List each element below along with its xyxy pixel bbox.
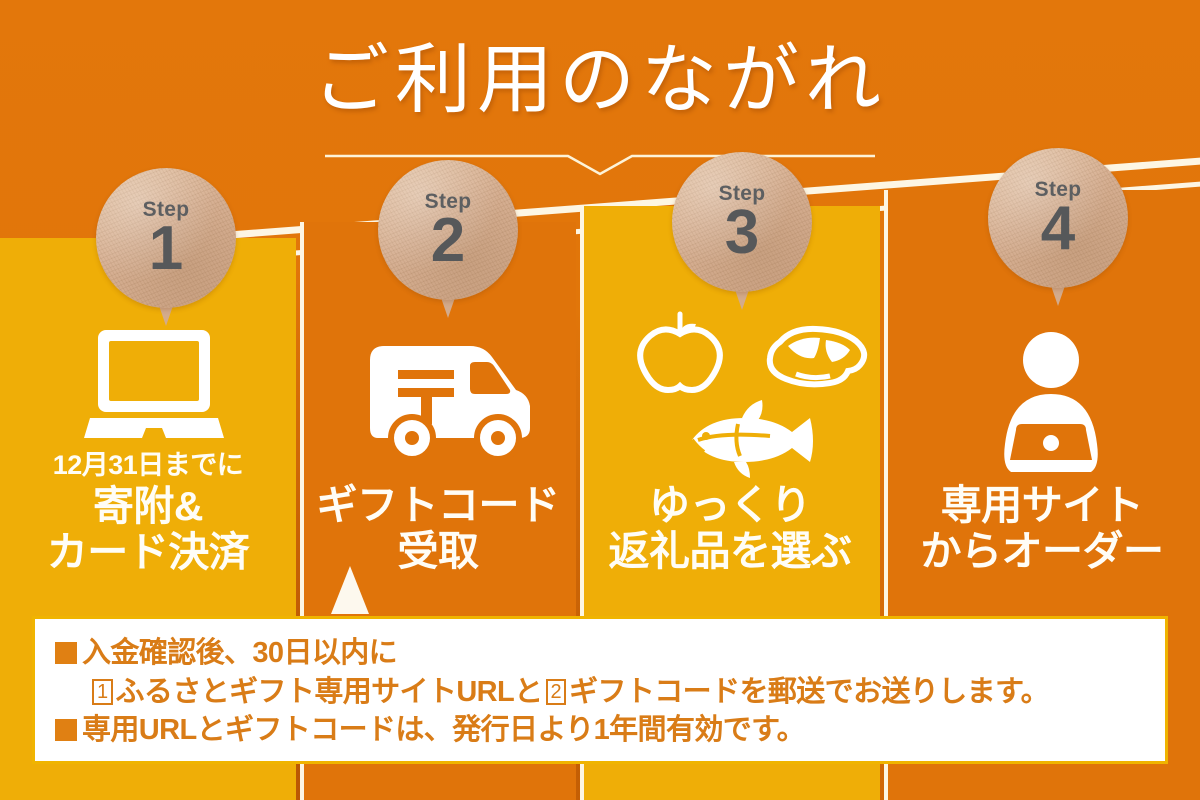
badge-number-2: 2 xyxy=(378,210,518,272)
step-caption-1-line2: カード決済 xyxy=(0,530,296,576)
postal-van-icon xyxy=(358,344,544,464)
laptop-icon xyxy=(84,326,224,444)
step-caption-4-line1: 専用サイト xyxy=(884,483,1200,529)
step-badge-2: Step 2 xyxy=(378,160,518,300)
note-line-3-text: 専用URLとギフトコードは、発行日より1年間有効です。 xyxy=(82,714,805,746)
fish-icon xyxy=(668,396,834,482)
step-caption-3-line1: ゆっくり xyxy=(580,483,880,529)
person-laptop-icon xyxy=(986,330,1116,476)
meat-icon xyxy=(762,324,870,392)
badge-number-1: 1 xyxy=(96,218,236,280)
note-line-2: 1ふるさとギフト専用サイトURLと2ギフトコードを郵送でお送りします。 xyxy=(55,673,1147,712)
step2-pointer-triangle xyxy=(331,566,369,614)
step-caption-1-small: 12月31日までに xyxy=(0,450,296,480)
bullet-square-icon-2 xyxy=(55,719,77,741)
badge-number-3: 3 xyxy=(672,202,812,264)
note-line-1: 入金確認後、30日以内に xyxy=(55,634,1147,673)
note-line-2-text-b: ギフトコードを郵送でお送りします。 xyxy=(569,676,1049,708)
step-caption-1-line1: 寄附& xyxy=(0,484,296,530)
step-badge-1: Step 1 xyxy=(96,168,236,308)
note-line-2-text-a: ふるさとギフト専用サイトURLと xyxy=(116,676,543,708)
infographic-canvas: ご利用のながれ Step 1 Step 2 Step 3 Step 4 xyxy=(0,0,1200,800)
step-caption-4-line2: からオーダー xyxy=(884,529,1200,575)
note-badge-1: 1 xyxy=(92,679,113,705)
step-badge-3: Step 3 xyxy=(672,152,812,292)
note-badge-2: 2 xyxy=(546,679,567,705)
apple-icon xyxy=(630,310,730,396)
step-caption-2-line1: ギフトコード xyxy=(300,483,576,529)
step-caption-4: 専用サイト からオーダー xyxy=(884,483,1200,575)
page-title: ご利用のながれ xyxy=(0,18,1200,128)
step-caption-1: 12月31日までに 寄附& カード決済 xyxy=(0,450,296,576)
note-line-1-text: 入金確認後、30日以内に xyxy=(82,637,397,669)
badge-number-4: 4 xyxy=(988,198,1128,260)
note-box: 入金確認後、30日以内に 1ふるさとギフト専用サイトURLと2ギフトコードを郵送… xyxy=(32,616,1168,764)
bullet-square-icon xyxy=(55,642,77,664)
step-caption-3: ゆっくり 返礼品を選ぶ xyxy=(580,483,880,575)
note-line-3: 専用URLとギフトコードは、発行日より1年間有効です。 xyxy=(55,711,1147,750)
step-badge-4: Step 4 xyxy=(988,148,1128,288)
step-caption-3-line2: 返礼品を選ぶ xyxy=(580,529,880,575)
step-caption-2: ギフトコード 受取 xyxy=(300,483,576,575)
